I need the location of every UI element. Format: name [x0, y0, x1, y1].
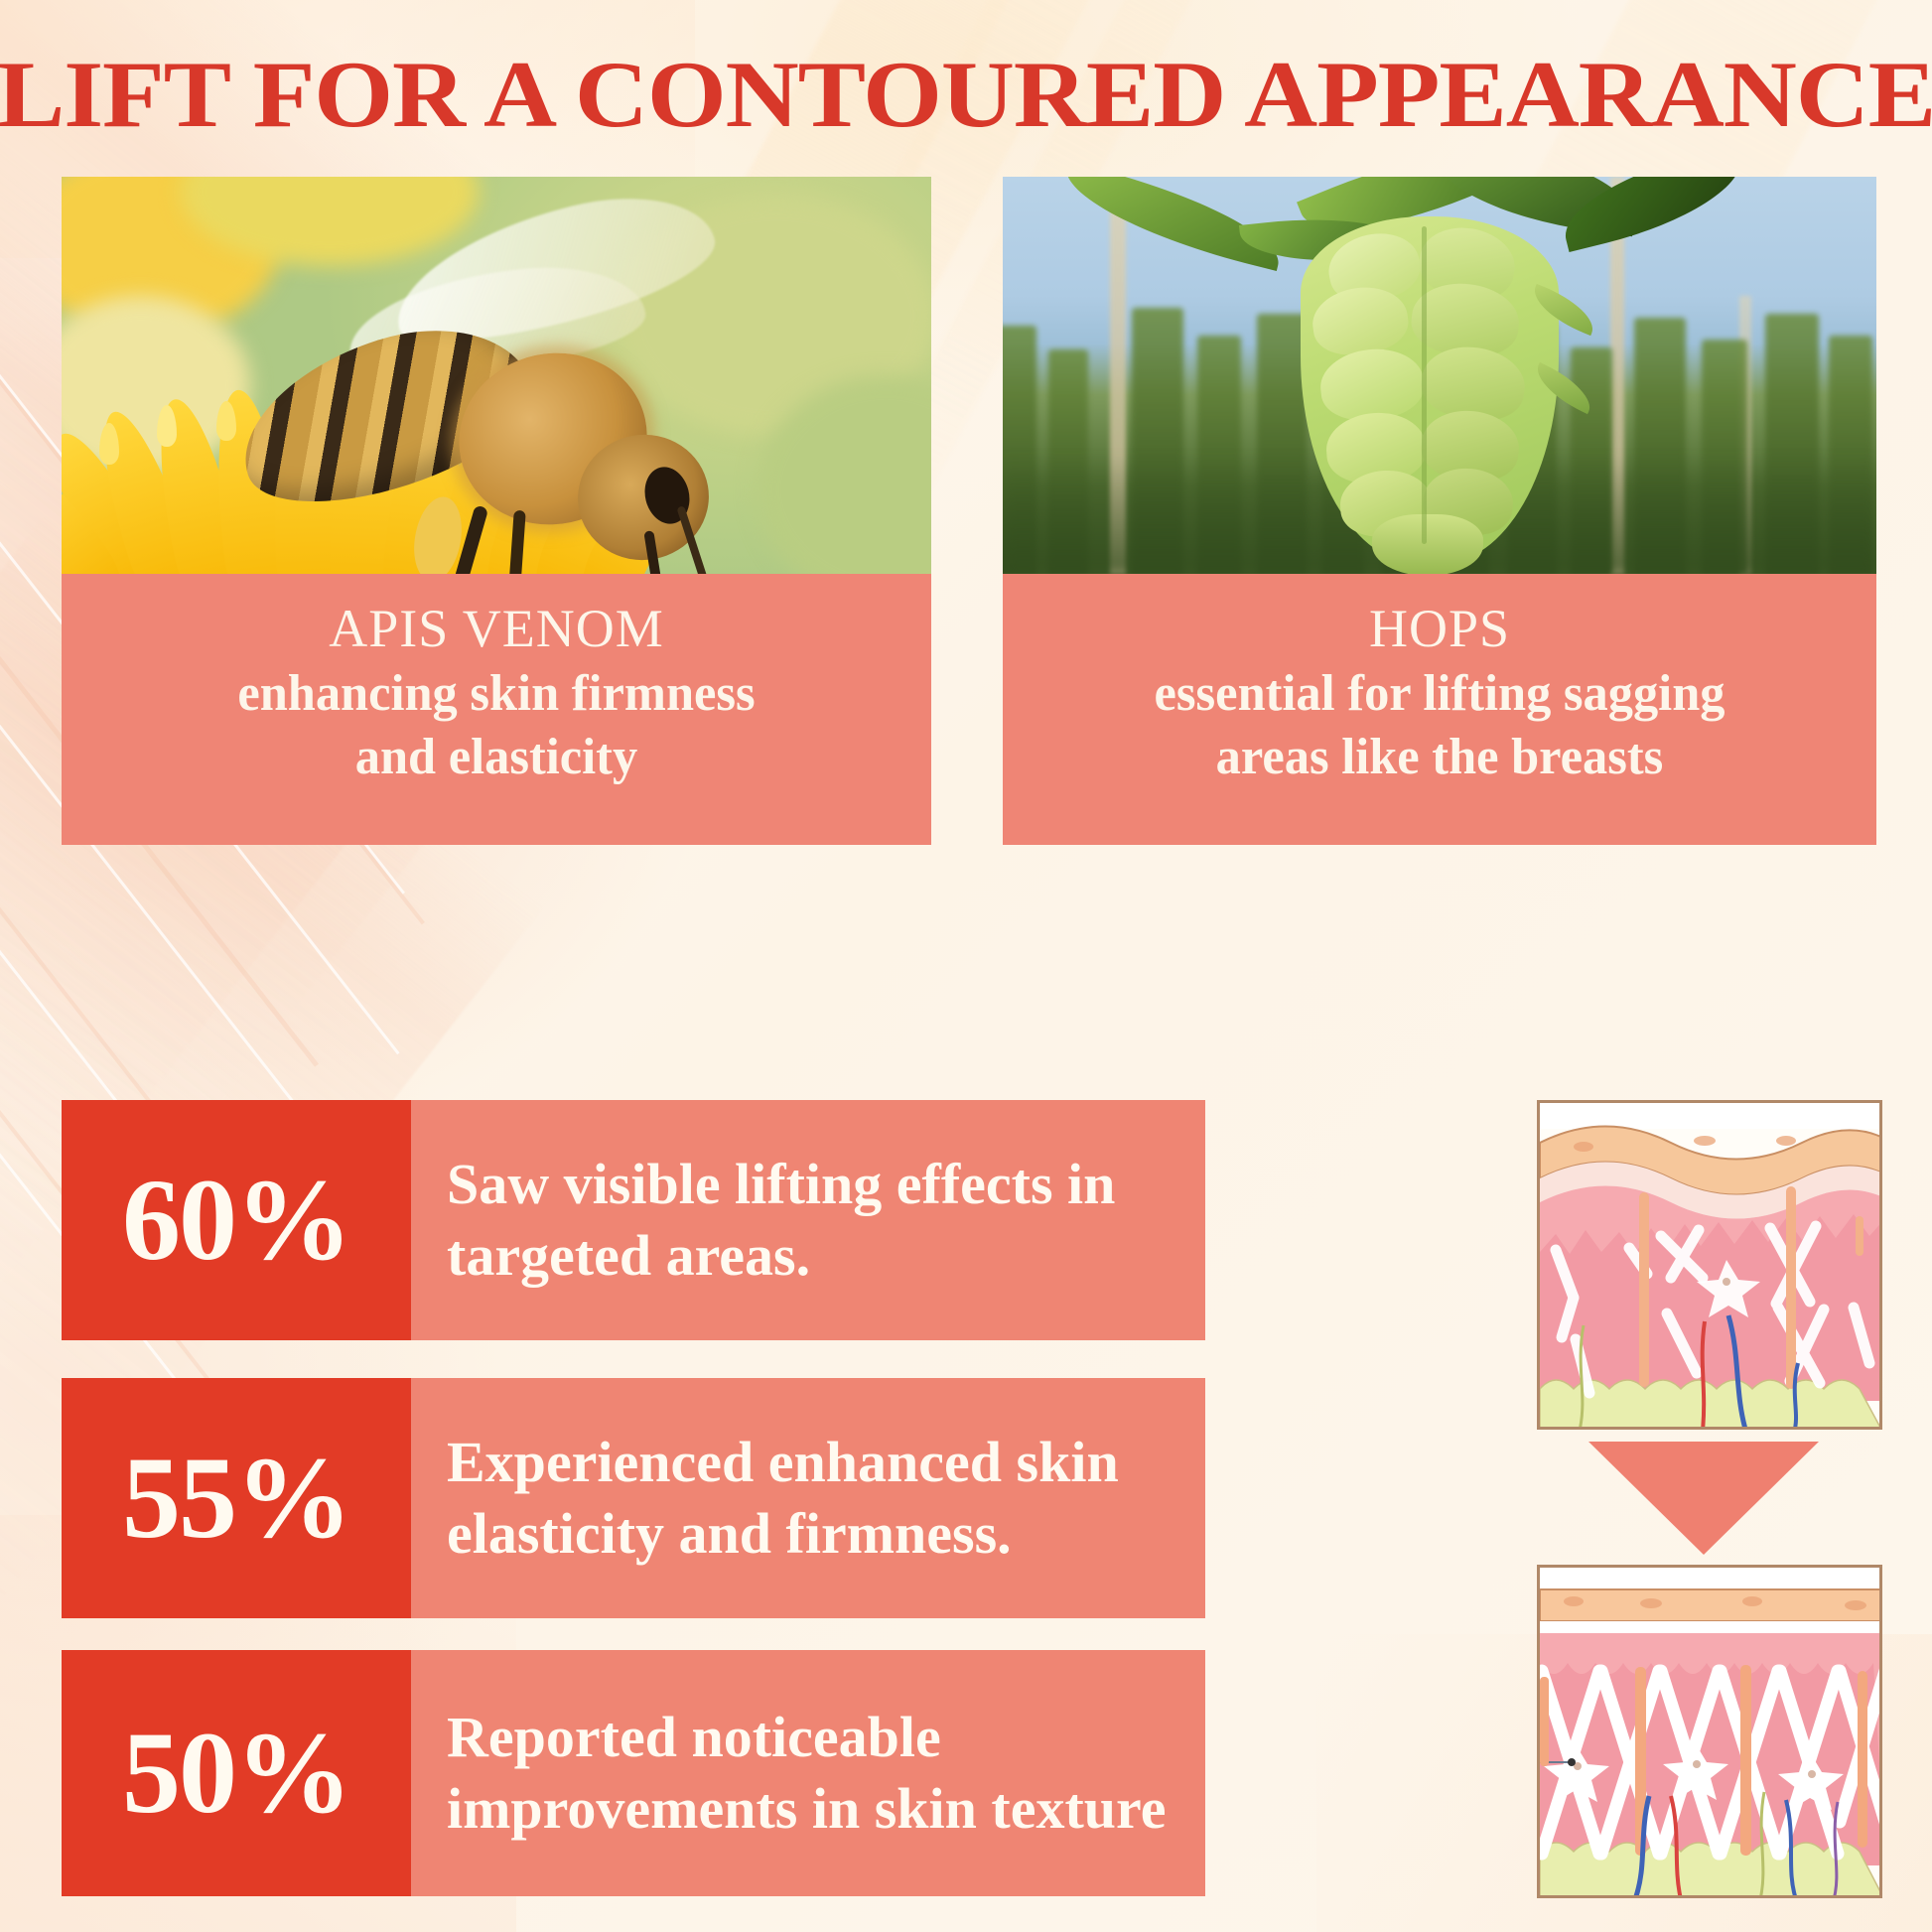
- ingredient-card-apis-venom: APIS VENOM enhancing skin firmness and e…: [62, 177, 931, 845]
- stat-description: Saw visible lifting effects in targeted …: [411, 1100, 1205, 1340]
- ingredient-description-line-1: enhancing skin firmness: [92, 662, 901, 725]
- ingredient-description-line-2: and elasticity: [92, 726, 901, 788]
- stat-row: 50% Reported noticeable improvements in …: [62, 1650, 1205, 1896]
- stat-row: 60% Saw visible lifting effects in targe…: [62, 1100, 1205, 1340]
- ingredient-description-line-2: areas like the breasts: [1034, 726, 1847, 788]
- apis-venom-caption: APIS VENOM enhancing skin firmness and e…: [62, 574, 931, 845]
- skin-diagram-after: [1537, 1565, 1882, 1898]
- ingredient-name: HOPS: [1021, 600, 1859, 658]
- stat-description-line-2: targeted areas.: [447, 1223, 810, 1288]
- page-title: LIFT FOR A CONTOURED APPEARANCE: [0, 48, 1932, 142]
- stat-percent-value: 55%: [62, 1378, 411, 1618]
- ingredient-description-line-1: essential for lifting sagging: [1034, 662, 1847, 725]
- stat-description-line-1: Reported noticeable: [447, 1705, 941, 1769]
- stat-description-line-1: Saw visible lifting effects in: [447, 1152, 1115, 1216]
- ingredient-name: APIS VENOM: [79, 600, 913, 658]
- ingredient-card-hops: HOPS essential for lifting sagging areas…: [1003, 177, 1876, 845]
- stat-description: Reported noticeable improvements in skin…: [411, 1650, 1205, 1896]
- downward-triangle-arrow: [1588, 1442, 1819, 1555]
- stat-row: 55% Experienced enhanced skin elasticity…: [62, 1378, 1205, 1618]
- stat-description: Experienced enhanced skin elasticity and…: [411, 1378, 1205, 1618]
- skin-diagram-before: [1537, 1100, 1882, 1430]
- stat-percent-value: 50%: [62, 1650, 411, 1896]
- skin-layers-wavy-svg: [1540, 1103, 1882, 1430]
- stat-description-line-2: improvements in skin texture: [447, 1776, 1166, 1841]
- stat-percent-value: 60%: [62, 1100, 411, 1340]
- skin-layers-flat-svg: [1540, 1568, 1882, 1898]
- hops-caption: HOPS essential for lifting sagging areas…: [1003, 574, 1876, 845]
- stat-description-line-2: elasticity and firmness.: [447, 1501, 1012, 1566]
- honeybee-photo: [62, 177, 931, 574]
- hops-photo: [1003, 177, 1876, 574]
- stat-description-line-1: Experienced enhanced skin: [447, 1430, 1119, 1494]
